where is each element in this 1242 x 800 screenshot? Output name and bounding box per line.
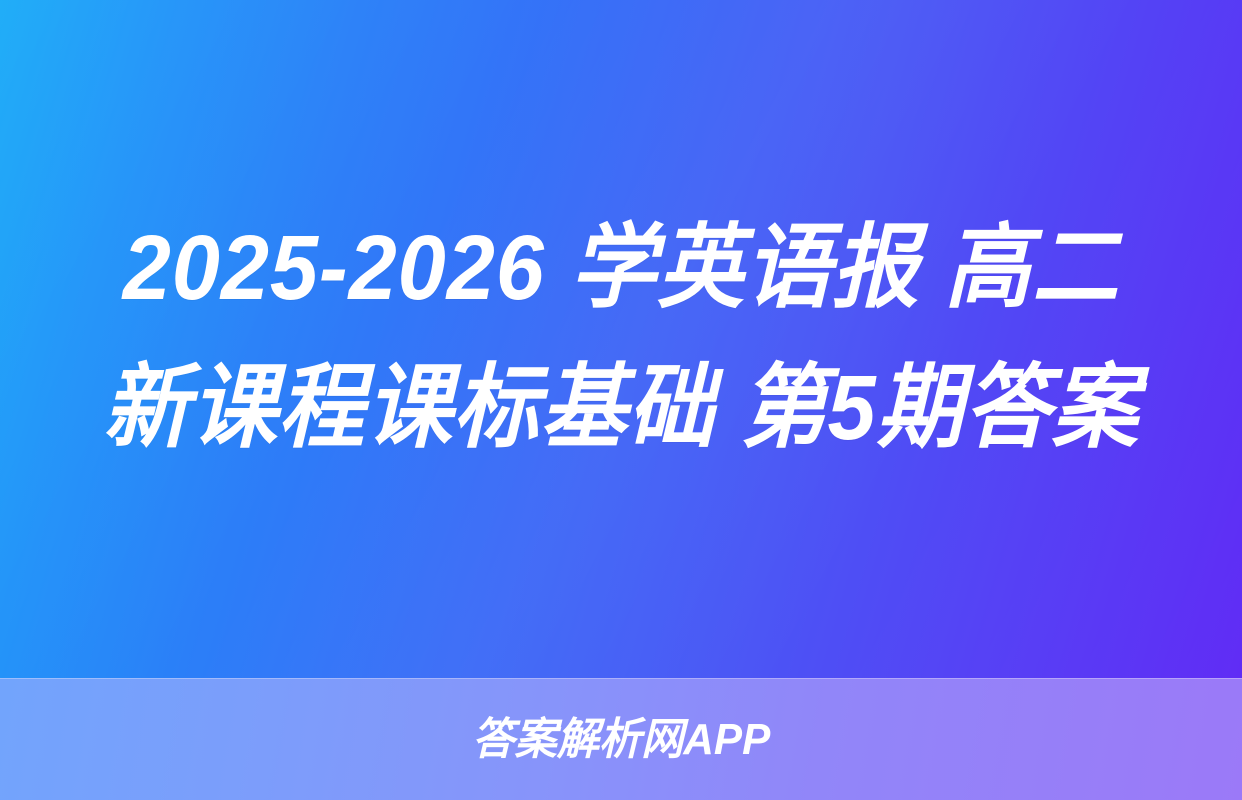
title-block: 2025-2026 学英语报 高二 新课程课标基础 第5期答案 <box>0 0 1242 678</box>
brand-footer-bar: 答案解析网APP <box>0 678 1242 800</box>
promo-poster: 2025-2026 学英语报 高二 新课程课标基础 第5期答案 答案解析网APP <box>0 0 1242 800</box>
page-title: 2025-2026 学英语报 高二 新课程课标基础 第5期答案 <box>92 199 1150 479</box>
app-brand-label: 答案解析网APP <box>472 718 770 762</box>
